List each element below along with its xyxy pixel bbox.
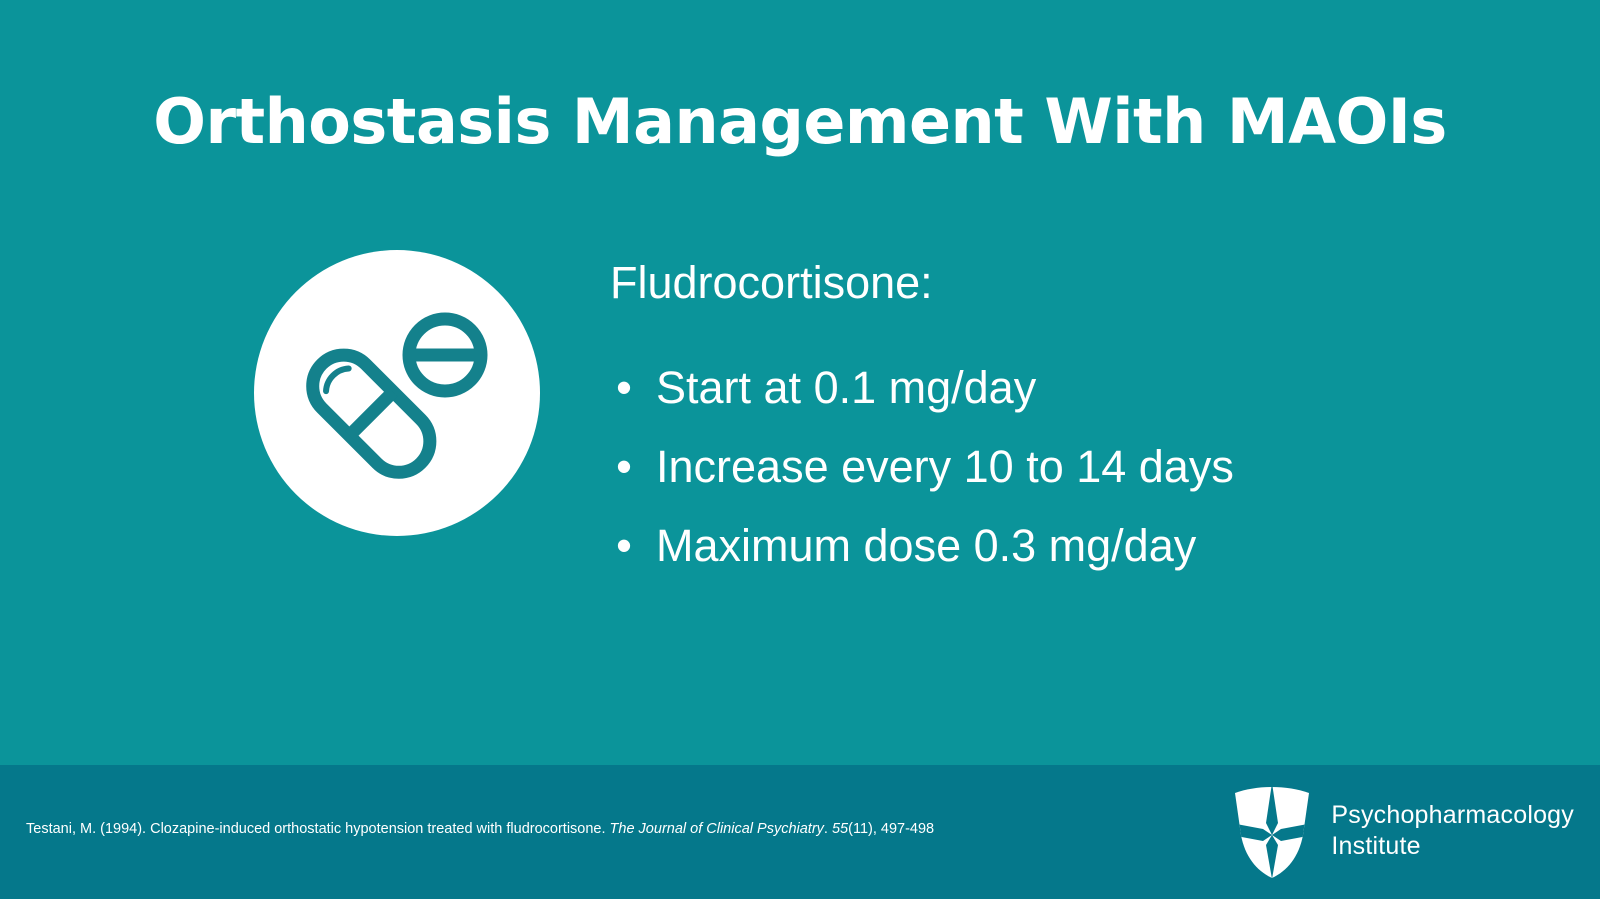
lead-text: Fludrocortisone: (610, 252, 1530, 314)
shield-logo-icon (1231, 783, 1313, 879)
slide: Orthostasis Management With MAOIs Fludro… (0, 0, 1600, 899)
list-item-label: Maximum dose 0.3 mg/day (656, 520, 1196, 571)
list-item-label: Increase every 10 to 14 days (656, 441, 1234, 492)
brand-name-line1: Psychopharmacology (1331, 801, 1574, 829)
citation-text-part2: . (824, 821, 832, 837)
bullet-marker: • (614, 506, 634, 585)
bullet-marker: • (614, 348, 634, 427)
page-title: Orthostasis Management With MAOIs (0, 84, 1600, 160)
content-block: Fludrocortisone: • Start at 0.1 mg/day •… (610, 252, 1530, 585)
list-item: • Start at 0.1 mg/day (610, 348, 1530, 427)
brand-logo: Psychopharmacology Institute (1231, 783, 1574, 879)
footer-bar: Testani, M. (1994). Clozapine-induced or… (0, 765, 1600, 899)
list-item: • Increase every 10 to 14 days (610, 427, 1530, 506)
list-item-label: Start at 0.1 mg/day (656, 362, 1036, 413)
citation-volume: 55 (832, 821, 848, 837)
citation-text-part1: Testani, M. (1994). Clozapine-induced or… (26, 821, 610, 837)
citation-text-part3: (11), 497-498 (848, 821, 934, 837)
brand-name: Psychopharmacology Institute (1331, 800, 1574, 862)
citation: Testani, M. (1994). Clozapine-induced or… (26, 819, 934, 839)
list-item: • Maximum dose 0.3 mg/day (610, 506, 1530, 585)
bullet-marker: • (614, 427, 634, 506)
pills-icon (254, 250, 540, 536)
bullet-list: • Start at 0.1 mg/day • Increase every 1… (610, 348, 1530, 585)
brand-name-line2: Institute (1331, 831, 1574, 862)
citation-journal: The Journal of Clinical Psychiatry (610, 821, 824, 837)
